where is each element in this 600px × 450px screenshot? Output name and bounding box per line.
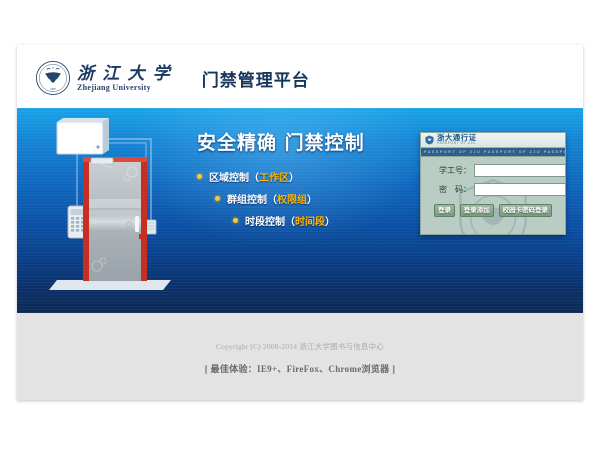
login-button-row: 登录 登录添加 校园卡密码登录 xyxy=(429,202,557,217)
hero-feature-list: 区域控制（工作区） 群组控制（权限组） 时段控制（时间段） xyxy=(197,169,412,228)
shield-icon xyxy=(425,135,434,145)
password-field-row: 密 码： xyxy=(429,183,557,196)
hero-feature-item: 群组控制（权限组） xyxy=(215,191,412,206)
footer-browser-note: [ 最佳体验：IE9+、FireFox、Chrome浏览器 ] xyxy=(17,362,583,375)
hero-feature-text: 区域控制（ xyxy=(209,169,259,184)
login-panel-title-block: 浙大通行证 PASSPORT OF ZJU xyxy=(437,134,477,145)
passport-strip: PASSPORT OF ZJU PASSPORT OF ZJU PASSPORT… xyxy=(421,148,565,157)
site-footer: Copyright (C) 2008-2014 浙江大学图书与信息中心 [ 最佳… xyxy=(17,313,583,400)
dot-icon xyxy=(215,196,220,201)
brand-name-en: Zhejiang University xyxy=(77,84,172,92)
login-button[interactable]: 登录 xyxy=(434,204,455,217)
access-control-door-illustration xyxy=(39,114,189,304)
page-title: 门禁管理平台 xyxy=(202,66,310,91)
login-add-button[interactable]: 登录添加 xyxy=(460,204,494,217)
hero-feature-item: 时段控制（时间段） xyxy=(233,213,412,228)
hero-feature-text-end: ） xyxy=(325,213,335,228)
site-header: 1897 浙 江 大 学 Zhejiang University 门禁管理平台 xyxy=(17,45,583,109)
dot-icon xyxy=(233,218,238,223)
hero-feature-highlight: 权限组 xyxy=(277,191,307,206)
page-root: 1897 浙 江 大 学 Zhejiang University 门禁管理平台 xyxy=(0,0,600,450)
hero-feature-text-end: ） xyxy=(289,169,299,184)
hero-feature-item: 区域控制（工作区） xyxy=(197,169,412,184)
footer-copyright: Copyright (C) 2008-2014 浙江大学图书与信息中心 xyxy=(17,341,583,352)
hero-copy: 安全精确 门禁控制 区域控制（工作区） 群组控制（权限组） 时段控制（时间段） xyxy=(197,128,412,244)
hero-banner: 安全精确 门禁控制 区域控制（工作区） 群组控制（权限组） 时段控制（时间段） xyxy=(17,108,583,313)
svg-text:1897: 1897 xyxy=(50,87,56,91)
login-panel-subtitle: PASSPORT OF ZJU xyxy=(437,142,477,145)
brand-row: 1897 浙 江 大 学 Zhejiang University 门禁管理平台 xyxy=(35,58,310,98)
username-input[interactable] xyxy=(474,164,566,177)
hero-headline: 安全精确 门禁控制 xyxy=(197,128,412,155)
hero-feature-text: 时段控制（ xyxy=(245,213,295,228)
hero-feature-text-end: ） xyxy=(307,191,317,206)
username-field-row: 学工号： xyxy=(429,164,557,177)
page-shell: 1897 浙 江 大 学 Zhejiang University 门禁管理平台 xyxy=(17,45,583,400)
zju-seal-icon: 1897 xyxy=(35,60,71,96)
login-panel-header: 浙大通行证 PASSPORT OF ZJU xyxy=(421,133,565,148)
password-label: 密 码： xyxy=(429,184,474,195)
hero-feature-highlight: 时间段 xyxy=(295,213,325,228)
username-label: 学工号： xyxy=(429,165,474,176)
login-panel: 浙大通行证 PASSPORT OF ZJU PASSPORT OF ZJU PA… xyxy=(420,132,566,235)
password-input[interactable] xyxy=(474,183,566,196)
brand-name-cn: 浙 江 大 学 xyxy=(77,65,172,82)
dot-icon xyxy=(197,174,202,179)
zju-wordmark: 浙 江 大 学 Zhejiang University xyxy=(77,65,172,92)
passport-strip-text: PASSPORT OF ZJU PASSPORT OF ZJU PASSPORT… xyxy=(421,150,565,154)
hero-feature-highlight: 工作区 xyxy=(259,169,289,184)
campus-card-login-button[interactable]: 校园卡密码登录 xyxy=(499,204,553,217)
hero-feature-text: 群组控制（ xyxy=(227,191,277,206)
login-form: 学工号： 密 码： 登录 登录添加 校园卡密码登录 xyxy=(421,157,565,217)
